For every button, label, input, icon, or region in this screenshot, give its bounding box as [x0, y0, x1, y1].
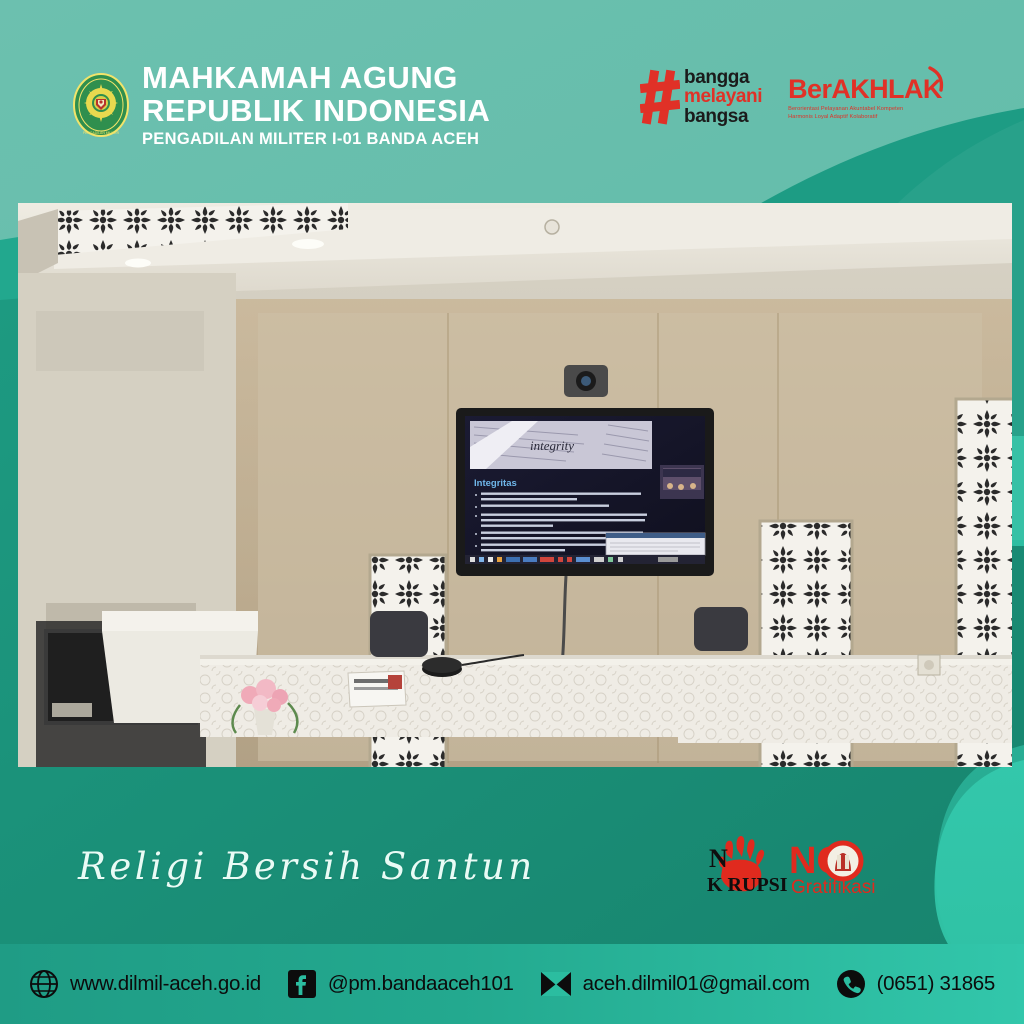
- globe-icon: [29, 969, 59, 999]
- anti-corruption-badges: N K RUPSI NO Gratifikasi: [697, 833, 883, 905]
- poster-canvas: PENGADILAN MILITER MAHKAMAH AGUNG REPUBL…: [0, 0, 1024, 1024]
- berakhlak-word: BerAKHLAK: [788, 76, 942, 103]
- mahkamah-agung-crest-icon: PENGADILAN MILITER: [72, 72, 130, 138]
- event-photo: integrity Integritas: [18, 203, 1012, 767]
- footer-email[interactable]: aceh.dilmil01@gmail.com: [540, 971, 810, 997]
- contact-footer: www.dilmil-aceh.go.id @pm.bandaaceh101 a…: [0, 944, 1024, 1024]
- no-korupsi-word: K RUPSI: [707, 874, 788, 896]
- no-korupsi-n: N: [709, 844, 728, 873]
- berakhlak-tagline-2: Harmonis Loyal Adaptif Kolaboratif: [788, 113, 912, 121]
- email-text: aceh.dilmil01@gmail.com: [583, 972, 810, 996]
- no-korupsi-logo: N K RUPSI: [707, 836, 788, 896]
- event-photo-illustration: integrity Integritas: [18, 203, 1012, 767]
- berakhlak-tagline-1: Berorientasi Pelayanan Akuntabel Kompete…: [788, 105, 912, 113]
- slide-banner-word: integrity: [530, 438, 574, 453]
- bangga-line3: bangsa: [684, 107, 762, 126]
- website-text: www.dilmil-aceh.go.id: [70, 972, 261, 996]
- footer-facebook[interactable]: @pm.bandaaceh101: [287, 969, 514, 999]
- svg-text:PENGADILAN MILITER: PENGADILAN MILITER: [83, 131, 120, 135]
- berakhlak-logo: BerAKHLAK Berorientasi Pelayanan Akuntab…: [788, 68, 942, 121]
- brand-block: PENGADILAN MILITER MAHKAMAH AGUNG REPUBL…: [72, 62, 490, 148]
- phone-icon: [836, 969, 866, 999]
- email-icon: [540, 971, 572, 997]
- facebook-icon: [287, 969, 317, 999]
- poster-slogan: Religi Bersih Santun: [78, 845, 536, 888]
- no-korupsi-no-gratifikasi-logos: N K RUPSI NO Gratifikasi: [697, 833, 883, 905]
- partner-logos: bangga melayani bangsa BerAKHLAK Berorie…: [640, 68, 942, 126]
- no-gratifikasi-logo: NO Gratifikasi: [789, 840, 875, 898]
- institution-line1: MAHKAMAH AGUNG: [142, 62, 490, 93]
- institution-line2: REPUBLIK INDONESIA: [142, 95, 490, 126]
- footer-phone[interactable]: (0651) 31865: [836, 969, 995, 999]
- bangga-line1: bangga: [684, 68, 762, 87]
- poster-header: PENGADILAN MILITER MAHKAMAH AGUNG REPUBL…: [0, 0, 1024, 185]
- no-gratification-icon: [825, 843, 861, 879]
- slide-heading: Integritas: [474, 478, 517, 489]
- unit-name: PENGADILAN MILITER I-01 BANDA ACEH: [142, 131, 490, 148]
- bangga-line2: melayani: [684, 87, 762, 106]
- footer-website[interactable]: www.dilmil-aceh.go.id: [29, 969, 261, 999]
- facebook-text: @pm.bandaaceh101: [328, 972, 514, 996]
- no-gratifikasi-word: Gratifikasi: [791, 877, 875, 898]
- bangga-melayani-bangsa-logo: bangga melayani bangsa: [640, 68, 762, 126]
- swoosh-icon: [928, 66, 948, 92]
- phone-text: (0651) 31865: [877, 972, 995, 996]
- hash-icon: [640, 68, 680, 126]
